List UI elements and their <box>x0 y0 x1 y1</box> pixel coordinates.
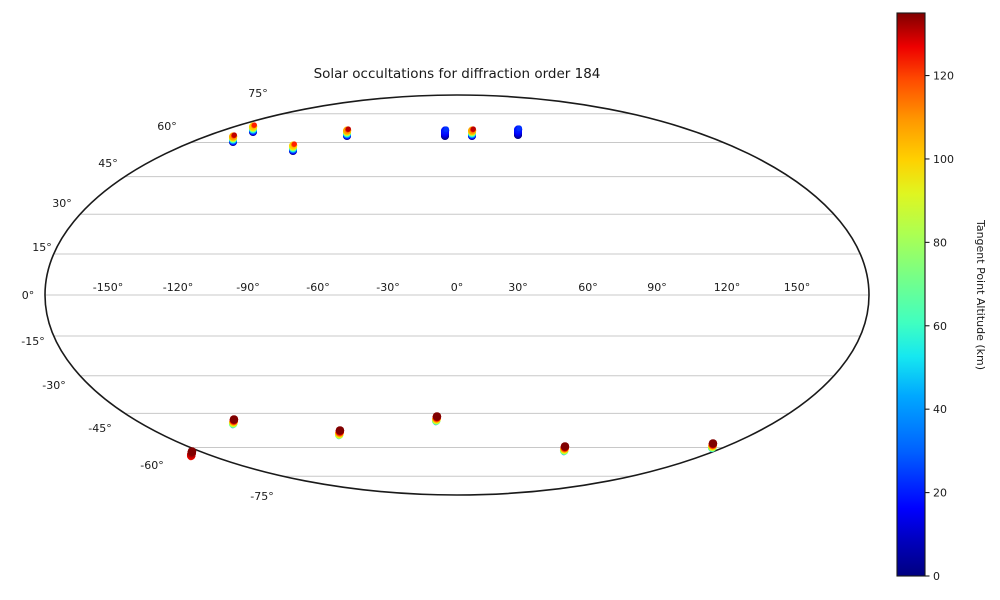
longitude-tick-label: -60° <box>306 281 329 294</box>
tangent-point-dot <box>433 412 441 420</box>
longitude-tick-label: -120° <box>163 281 193 294</box>
graticule-parallels <box>45 114 869 476</box>
tangent-point-dot <box>232 132 237 137</box>
latitude-tick-label: -45° <box>88 422 111 435</box>
tangent-point-dot <box>561 442 569 450</box>
occultation-marker <box>514 125 522 139</box>
tangent-point-dot <box>292 141 297 146</box>
occultation-marker <box>560 442 569 455</box>
latitude-tick-label: 15° <box>32 241 52 254</box>
longitude-tick-label: 150° <box>784 281 811 294</box>
occultation-marker <box>187 447 196 460</box>
map-panel <box>45 95 869 495</box>
longitude-tick-label: 90° <box>647 281 667 294</box>
tangent-point-dot <box>517 125 522 130</box>
latitude-tick-label: -15° <box>21 335 44 348</box>
occultation-marker <box>343 126 351 140</box>
latitude-tick-label: -30° <box>42 379 65 392</box>
solar-occultation-figure: Solar occultations for diffraction order… <box>0 0 1000 600</box>
colorbar-tick-label: 40 <box>933 403 947 416</box>
occultation-marker <box>229 415 238 428</box>
latitude-tick-label: 30° <box>52 197 72 210</box>
colorbar-tick-label: 60 <box>933 320 947 333</box>
longitude-tick-label: 0° <box>451 281 464 294</box>
colorbar-tick-label: 100 <box>933 153 954 166</box>
occultation-marker <box>229 132 237 146</box>
colorbar-gradient <box>897 13 925 576</box>
tangent-point-dot <box>252 122 257 127</box>
latitude-tick-label: 60° <box>157 120 177 133</box>
tangent-point-dot <box>709 439 717 447</box>
tangent-point-dot <box>230 415 238 423</box>
occultation-marker <box>335 426 344 439</box>
figure-root: Solar occultations for diffraction order… <box>0 0 1000 600</box>
longitude-tick-label: 120° <box>714 281 741 294</box>
longitude-tick-label: -30° <box>376 281 399 294</box>
colorbar: 020406080100120 Tangent Point Altitude (… <box>897 13 987 583</box>
tangent-point-dot <box>336 426 344 434</box>
latitude-tick-label: -75° <box>250 490 273 503</box>
latitude-tick-label: 75° <box>248 87 268 100</box>
colorbar-tick-label: 20 <box>933 487 947 500</box>
latitude-tick-label: 45° <box>98 157 118 170</box>
longitude-tick-label: 30° <box>508 281 528 294</box>
colorbar-tick-label: 0 <box>933 570 940 583</box>
occultation-marker <box>432 412 441 425</box>
tangent-point-dot <box>346 126 351 131</box>
longitude-tick-labels: -150°-120°-90°-60°-30°0°30°60°90°120°150… <box>93 281 810 294</box>
latitude-tick-label: -60° <box>140 459 163 472</box>
occultation-marker <box>441 126 449 140</box>
longitude-tick-label: 60° <box>578 281 598 294</box>
colorbar-tick-label: 120 <box>933 70 954 83</box>
colorbar-axis-label: Tangent Point Altitude (km) <box>974 219 987 370</box>
longitude-tick-label: -90° <box>236 281 259 294</box>
colorbar-tick-label: 80 <box>933 236 947 249</box>
tangent-point-dot <box>471 126 476 131</box>
occultation-marker <box>249 122 257 136</box>
tangent-point-dot <box>444 126 449 131</box>
colorbar-ticks: 020406080100120 <box>925 70 954 583</box>
graticule-group <box>45 114 869 476</box>
latitude-tick-label: 0° <box>22 289 35 302</box>
page-title: Solar occultations for diffraction order… <box>314 66 601 82</box>
occultation-marker <box>468 126 476 140</box>
occultation-marker <box>289 141 297 155</box>
tangent-point-dot <box>188 447 196 455</box>
longitude-tick-label: -150° <box>93 281 123 294</box>
